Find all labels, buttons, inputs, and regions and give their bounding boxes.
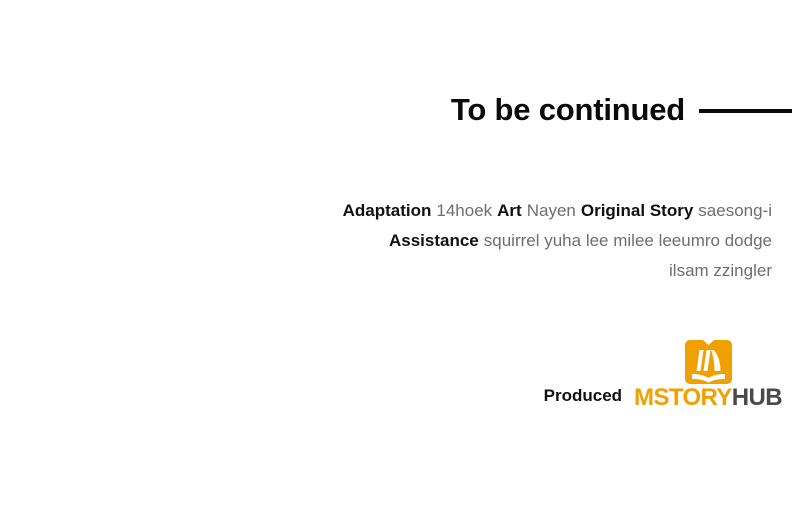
credit-name-original-story: saesong-i: [698, 201, 772, 220]
to-be-continued-text: To be continued: [451, 94, 685, 125]
credit-name-adaptation: 14hoek: [436, 201, 492, 220]
credits-line-3: ilsam zzingler: [252, 256, 772, 286]
credits-line-1: Adaptation14hoekArtNayenOriginal Storysa…: [252, 196, 772, 226]
credit-names-assistance-overflow: ilsam zzingler: [669, 261, 772, 280]
produced-label: Produced: [544, 386, 622, 406]
credit-role-assistance: Assistance: [389, 231, 479, 250]
producer-block: Produced MSTORYHUB: [0, 340, 782, 410]
credit-role-original-story: Original Story: [581, 201, 693, 220]
open-book-logo-icon: [685, 340, 732, 384]
logo-word-mstory: MSTORY: [634, 384, 732, 411]
credits-line-2: Assistancesquirrel yuha lee milee leeumr…: [252, 226, 772, 256]
credit-names-assistance: squirrel yuha lee milee leeumro dodge: [484, 231, 772, 250]
mstoryhub-wordmark: MSTORYHUB: [634, 386, 782, 410]
mstoryhub-logo[interactable]: MSTORYHUB: [634, 340, 782, 410]
credits-block: Adaptation14hoekArtNayenOriginal Storysa…: [252, 196, 772, 286]
credit-role-art: Art: [497, 201, 522, 220]
horizontal-rule-icon: [699, 109, 792, 113]
logo-word-hub: HUB: [732, 384, 782, 411]
credit-name-art: Nayen: [527, 201, 576, 220]
credit-role-adaptation: Adaptation: [343, 201, 432, 220]
to-be-continued-banner: To be continued: [0, 94, 792, 125]
